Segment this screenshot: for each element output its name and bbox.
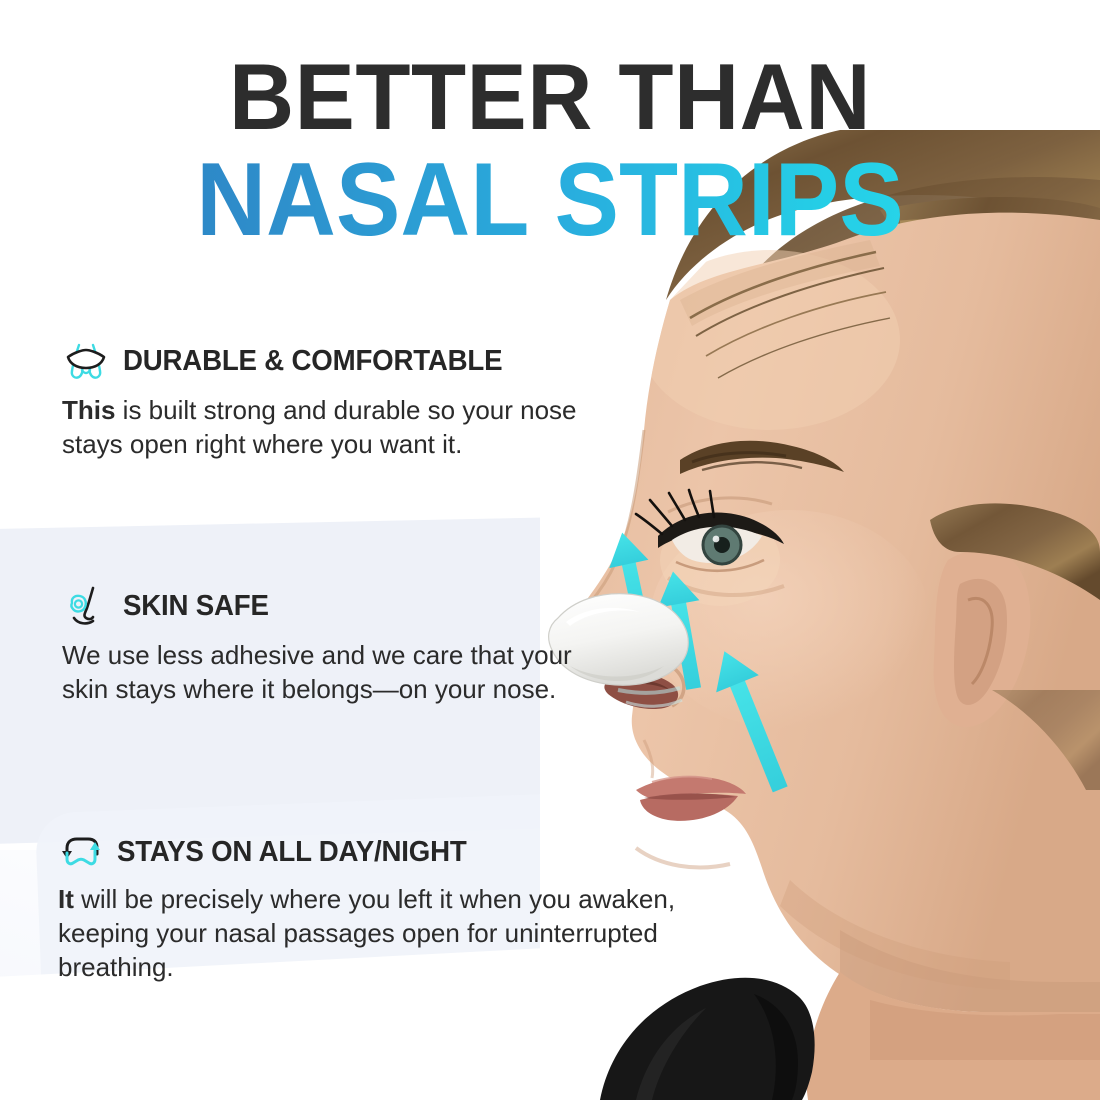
headline-line-2: NASAL STRIPS	[39, 148, 1062, 252]
feature-2-body: We use less adhesive and we care that yo…	[62, 638, 622, 706]
feature-3-text: will be precisely where you left it when…	[58, 884, 675, 982]
feature-durable-comfortable: DURABLE & COMFORTABLE This is built stro…	[62, 340, 622, 461]
feature-3-lead: It	[58, 884, 74, 914]
feature-3-header: STAYS ON ALL DAY/NIGHT	[58, 833, 698, 871]
nose-front-with-strip-icon	[62, 340, 110, 382]
feature-3-body: It will be precisely where you left it w…	[58, 882, 698, 984]
day-night-cycle-icon	[58, 833, 104, 871]
feature-2-title: SKIN SAFE	[123, 590, 269, 623]
feature-skin-safe: SKIN SAFE We use less adhesive and we ca…	[62, 585, 622, 706]
feature-1-text: is built strong and durable so your nose…	[62, 395, 577, 459]
infographic-canvas: BETTER THAN NASAL STRIPS DURABLE & COMFO…	[0, 0, 1100, 1100]
feature-3-title: STAYS ON ALL DAY/NIGHT	[117, 836, 467, 869]
feature-2-text: We use less adhesive and we care that yo…	[62, 640, 572, 704]
feature-1-lead: This	[62, 395, 115, 425]
feature-1-header: DURABLE & COMFORTABLE	[62, 340, 622, 382]
feature-1-body: This is built strong and durable so your…	[62, 393, 622, 461]
feature-stays-on-all-day-night: STAYS ON ALL DAY/NIGHT It will be precis…	[58, 833, 698, 984]
feature-1-title: DURABLE & COMFORTABLE	[123, 345, 502, 378]
feature-2-header: SKIN SAFE	[62, 585, 622, 627]
page-title: BETTER THAN NASAL STRIPS	[0, 52, 1100, 252]
nose-profile-skin-cell-icon	[62, 585, 110, 627]
headline-line-1: BETTER THAN	[22, 52, 1078, 142]
